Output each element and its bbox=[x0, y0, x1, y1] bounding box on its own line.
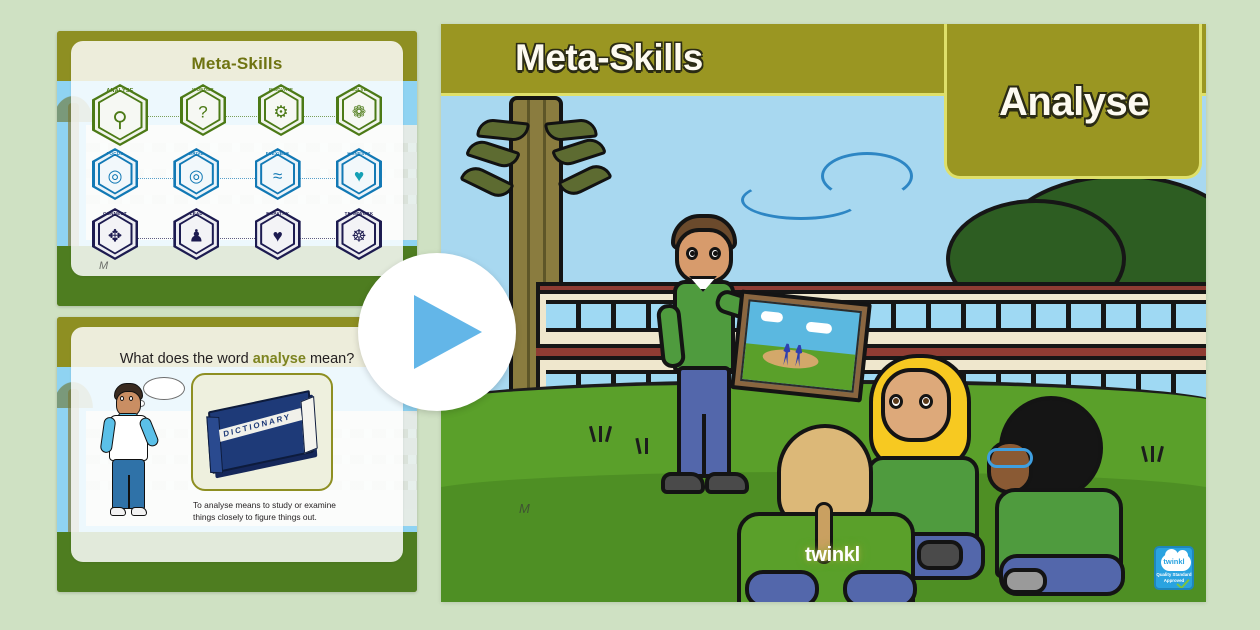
meta-skills-row-green: ANALYSE ⚲ WONDER bbox=[85, 84, 389, 146]
main-title: Meta-Skills bbox=[515, 37, 703, 79]
hex-honesty[interactable]: HONESTY ♥ bbox=[329, 148, 389, 200]
dictionary-label: DICTIONARY bbox=[223, 409, 302, 439]
hex-wonder[interactable]: WONDER ? bbox=[173, 84, 233, 136]
heart-in-hands-icon: ♥ bbox=[329, 168, 389, 185]
hex-label: SOLVE bbox=[351, 87, 367, 92]
twinkl-watermark: twinkl bbox=[805, 544, 860, 567]
heart-hands-icon: ♥ bbox=[248, 228, 308, 245]
hex-empathy[interactable]: EMPATHY ♥ bbox=[248, 208, 308, 260]
hex-drive[interactable]: DRIVE ◎ bbox=[166, 148, 226, 200]
hex-label: DRIVE bbox=[189, 151, 204, 156]
main-preview-image[interactable]: twinkl Meta-Skills Analyse twinkl Qualit… bbox=[441, 24, 1206, 602]
definition-caption: To analyse means to study or examine thi… bbox=[193, 499, 353, 523]
hex-label: ANALYSE bbox=[106, 88, 133, 94]
framed-picture bbox=[730, 289, 872, 402]
slide-thumbnail-meta-skills[interactable]: Meta-Skills ANALYSE ⚲ WONDER bbox=[57, 31, 417, 306]
slide1-title: Meta-Skills bbox=[71, 54, 403, 74]
definition-question: What does the word analyse mean? bbox=[71, 351, 403, 367]
play-button[interactable] bbox=[358, 253, 516, 411]
glasses-icon bbox=[987, 448, 1033, 468]
question-suffix: mean? bbox=[306, 351, 354, 367]
meta-skills-row-blue: FOCUS ◎ DRIVE bbox=[85, 148, 389, 206]
hex-focus[interactable]: FOCUS ◎ bbox=[85, 148, 145, 200]
hex-flexible[interactable]: FLEXIBLE ≈ bbox=[248, 148, 308, 200]
people-group-icon: ♟ bbox=[166, 228, 226, 245]
hex-teamwork[interactable]: TEAMWORK ☸ bbox=[329, 208, 389, 260]
hex-label: HONESTY bbox=[347, 151, 370, 156]
m-watermark: M bbox=[519, 501, 530, 516]
hex-label: LEAD bbox=[190, 211, 203, 216]
seated-blonde-child-character: twinkl bbox=[739, 424, 911, 602]
scene-subtitle-tab: Analyse bbox=[944, 24, 1202, 179]
badge-brand: twinkl bbox=[1156, 557, 1192, 566]
hex-solve[interactable]: SOLVE ❁ bbox=[329, 84, 389, 136]
puzzle-globe-icon: ❁ bbox=[329, 104, 389, 121]
wave-lines-icon: ≈ bbox=[248, 168, 308, 185]
thinking-boy-icon bbox=[85, 373, 177, 523]
m-watermark: M bbox=[99, 260, 108, 272]
play-triangle-icon bbox=[414, 295, 482, 369]
hex-connect[interactable]: CONNECT ✥ bbox=[85, 208, 145, 260]
hex-label: INNOVATE bbox=[269, 87, 293, 92]
question-keyword: analyse bbox=[253, 351, 306, 367]
question-prefix: What does the word bbox=[120, 351, 253, 367]
hex-innovate[interactable]: INNOVATE ⚙ bbox=[251, 84, 311, 136]
slide-content-card: What does the word analyse mean? bbox=[71, 327, 403, 562]
lightbulb-gear-icon: ⚙ bbox=[251, 104, 311, 121]
shoe-shape bbox=[1003, 568, 1047, 594]
dictionary-image: DICTIONARY bbox=[191, 373, 333, 491]
target-arrow-icon: ◎ bbox=[166, 168, 226, 185]
twinkl-quality-badge: twinkl Quality Standard Approved bbox=[1154, 546, 1194, 590]
hex-analyse[interactable]: ANALYSE ⚲ bbox=[85, 84, 155, 146]
subtitle-analyse: Analyse bbox=[959, 80, 1189, 125]
face-shape bbox=[675, 228, 733, 284]
team-circle-icon: ☸ bbox=[329, 228, 389, 245]
slide-content-card: Meta-Skills ANALYSE ⚲ WONDER bbox=[71, 41, 403, 276]
hex-label: EMPATHY bbox=[266, 211, 289, 216]
hex-label: WONDER bbox=[192, 87, 214, 92]
magnifying-glass-icon: ⚲ bbox=[85, 109, 155, 130]
shoe-shape bbox=[917, 540, 963, 570]
four-arrows-icon: ✥ bbox=[85, 228, 145, 245]
hex-label: FLEXIBLE bbox=[266, 151, 290, 156]
hex-label: CONNECT bbox=[103, 211, 127, 216]
shoe-shape bbox=[661, 472, 705, 494]
hex-label: FOCUS bbox=[107, 151, 124, 156]
seated-curly-hair-character bbox=[981, 396, 1151, 596]
question-mark-icon: ? bbox=[173, 104, 233, 121]
meta-skills-grid: ANALYSE ⚲ WONDER bbox=[71, 84, 403, 266]
meta-skills-row-navy: CONNECT ✥ LEAD bbox=[85, 208, 389, 266]
target-icon: ◎ bbox=[85, 168, 145, 185]
hex-label: TEAMWORK bbox=[345, 211, 374, 216]
hex-lead[interactable]: LEAD ♟ bbox=[166, 208, 226, 260]
